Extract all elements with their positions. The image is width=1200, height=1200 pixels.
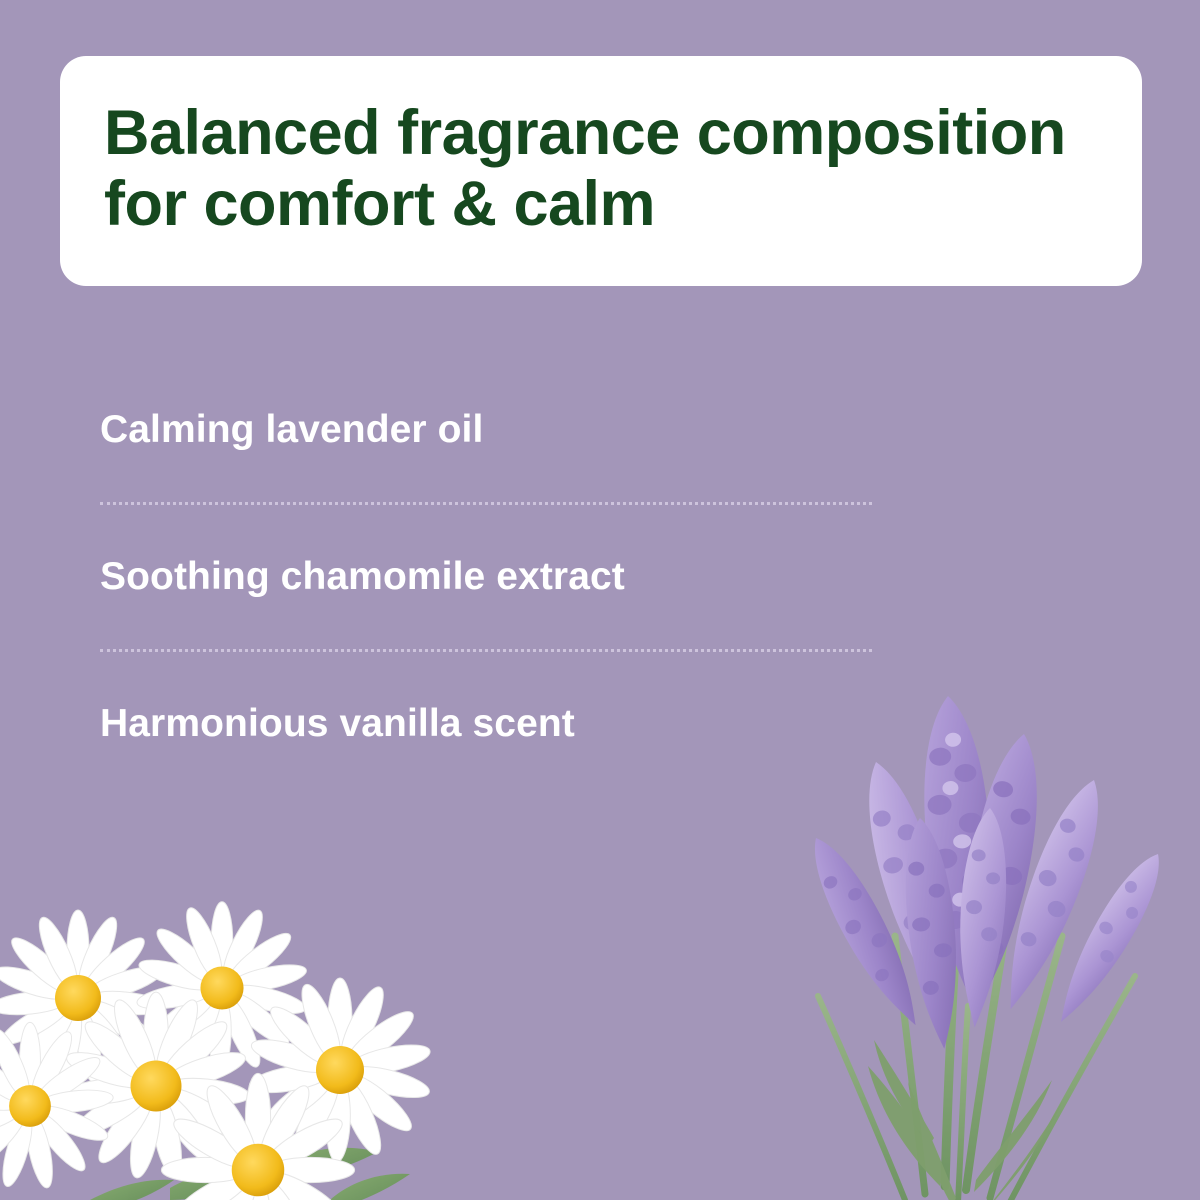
list-item: Harmonious vanilla scent — [100, 686, 880, 762]
headline-card: Balanced fragrance composition for comfo… — [60, 56, 1142, 286]
feature-list: Calming lavender oil Soothing chamomile … — [100, 392, 880, 762]
page-title: Balanced fragrance composition for comfo… — [104, 98, 1098, 240]
promo-poster: Balanced fragrance composition for comfo… — [0, 0, 1200, 1200]
list-item: Calming lavender oil — [100, 392, 880, 468]
list-divider — [100, 649, 872, 652]
chamomile-daisy-flowers-image — [0, 870, 530, 1200]
list-divider — [100, 502, 872, 505]
list-item: Soothing chamomile extract — [100, 539, 880, 615]
